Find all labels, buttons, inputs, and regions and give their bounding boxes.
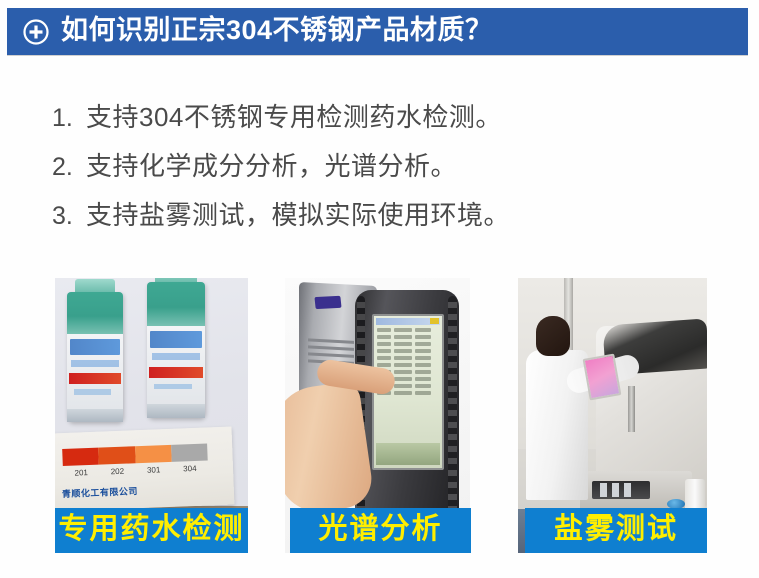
label-cn-band	[70, 339, 120, 356]
swatch-labels: 201 202 301 304	[63, 463, 208, 478]
instrument-badge	[314, 296, 341, 309]
bottle-label	[67, 334, 123, 409]
screen-row	[377, 363, 439, 367]
swatch-label-304: 304	[172, 463, 209, 473]
instrument-vents	[308, 338, 353, 343]
color-comparison-card: 201 202 301 304 青顺化工有限公司	[55, 427, 234, 512]
bottle-liquid	[147, 282, 205, 328]
panel-caption-spectrum-analysis: 光谱分析	[290, 508, 471, 553]
page-title: 如何识别正宗304不锈钢产品材质？	[61, 17, 493, 46]
swatch-label-202: 202	[99, 466, 136, 476]
bottle-liquid	[67, 292, 123, 336]
list-item: 2. 支持化学成分分析，光谱分析。	[52, 153, 652, 180]
screen-toolbar	[376, 443, 440, 465]
feature-list: 1. 支持304不锈钢专用检测药水检测。 2. 支持化学成分分析，光谱分析。 3…	[52, 104, 652, 251]
list-item-number: 3.	[52, 204, 86, 229]
caption-label: 专用药水检测	[58, 515, 244, 546]
bottle-base	[67, 409, 123, 422]
list-item: 1. 支持304不锈钢专用检测药水检测。	[52, 104, 652, 131]
list-item-label: 支持化学成分分析，光谱分析。	[86, 153, 457, 179]
panel-caption-reagent-test: 专用药水检测	[55, 508, 248, 553]
label-red-band	[69, 373, 121, 384]
swatch-strip	[62, 443, 208, 466]
list-item-number: 1.	[52, 106, 86, 131]
swatch-304	[171, 443, 208, 461]
screen-row	[377, 328, 439, 332]
bottle-base	[147, 404, 205, 418]
screen-row	[377, 356, 439, 360]
swatch-202	[98, 446, 135, 464]
machine-arm	[628, 386, 635, 432]
reagent-bottle	[67, 292, 123, 422]
reagent-bottle	[147, 282, 205, 418]
screen-row	[377, 335, 439, 339]
label-en-band	[152, 353, 201, 360]
header-bar: 如何识别正宗304不锈钢产品材质？	[7, 8, 748, 55]
swatch-301	[135, 445, 172, 463]
screen-row	[377, 342, 439, 346]
label-blue-band	[154, 384, 192, 390]
swatch-label-301: 301	[135, 465, 172, 475]
bottle-label	[147, 326, 205, 405]
caption-label: 光谱分析	[318, 515, 442, 546]
label-red-band	[149, 367, 202, 379]
list-item: 3. 支持盐雾测试，模拟实际使用环境。	[52, 202, 652, 229]
list-item-number: 2.	[52, 155, 86, 180]
plus-circle-icon	[23, 19, 49, 45]
screen-status-icon	[430, 318, 439, 324]
swatch-201	[62, 448, 99, 466]
swatch-label-201: 201	[63, 468, 100, 478]
list-item-label: 支持盐雾测试，模拟实际使用环境。	[86, 202, 510, 228]
caption-label: 盐雾测试	[554, 515, 678, 546]
technician-head	[536, 316, 570, 356]
screen-row	[377, 349, 439, 353]
instrument-head	[355, 290, 459, 545]
card-company-name: 青顺化工有限公司	[62, 484, 138, 500]
label-cn-band	[150, 331, 202, 348]
list-item-label: 支持304不锈钢专用检测药水检测。	[86, 104, 502, 130]
sample-tube	[600, 483, 607, 497]
panel-caption-salt-spray-test: 盐雾测试	[525, 508, 707, 553]
label-en-band	[71, 360, 118, 367]
label-blue-band	[74, 389, 111, 394]
